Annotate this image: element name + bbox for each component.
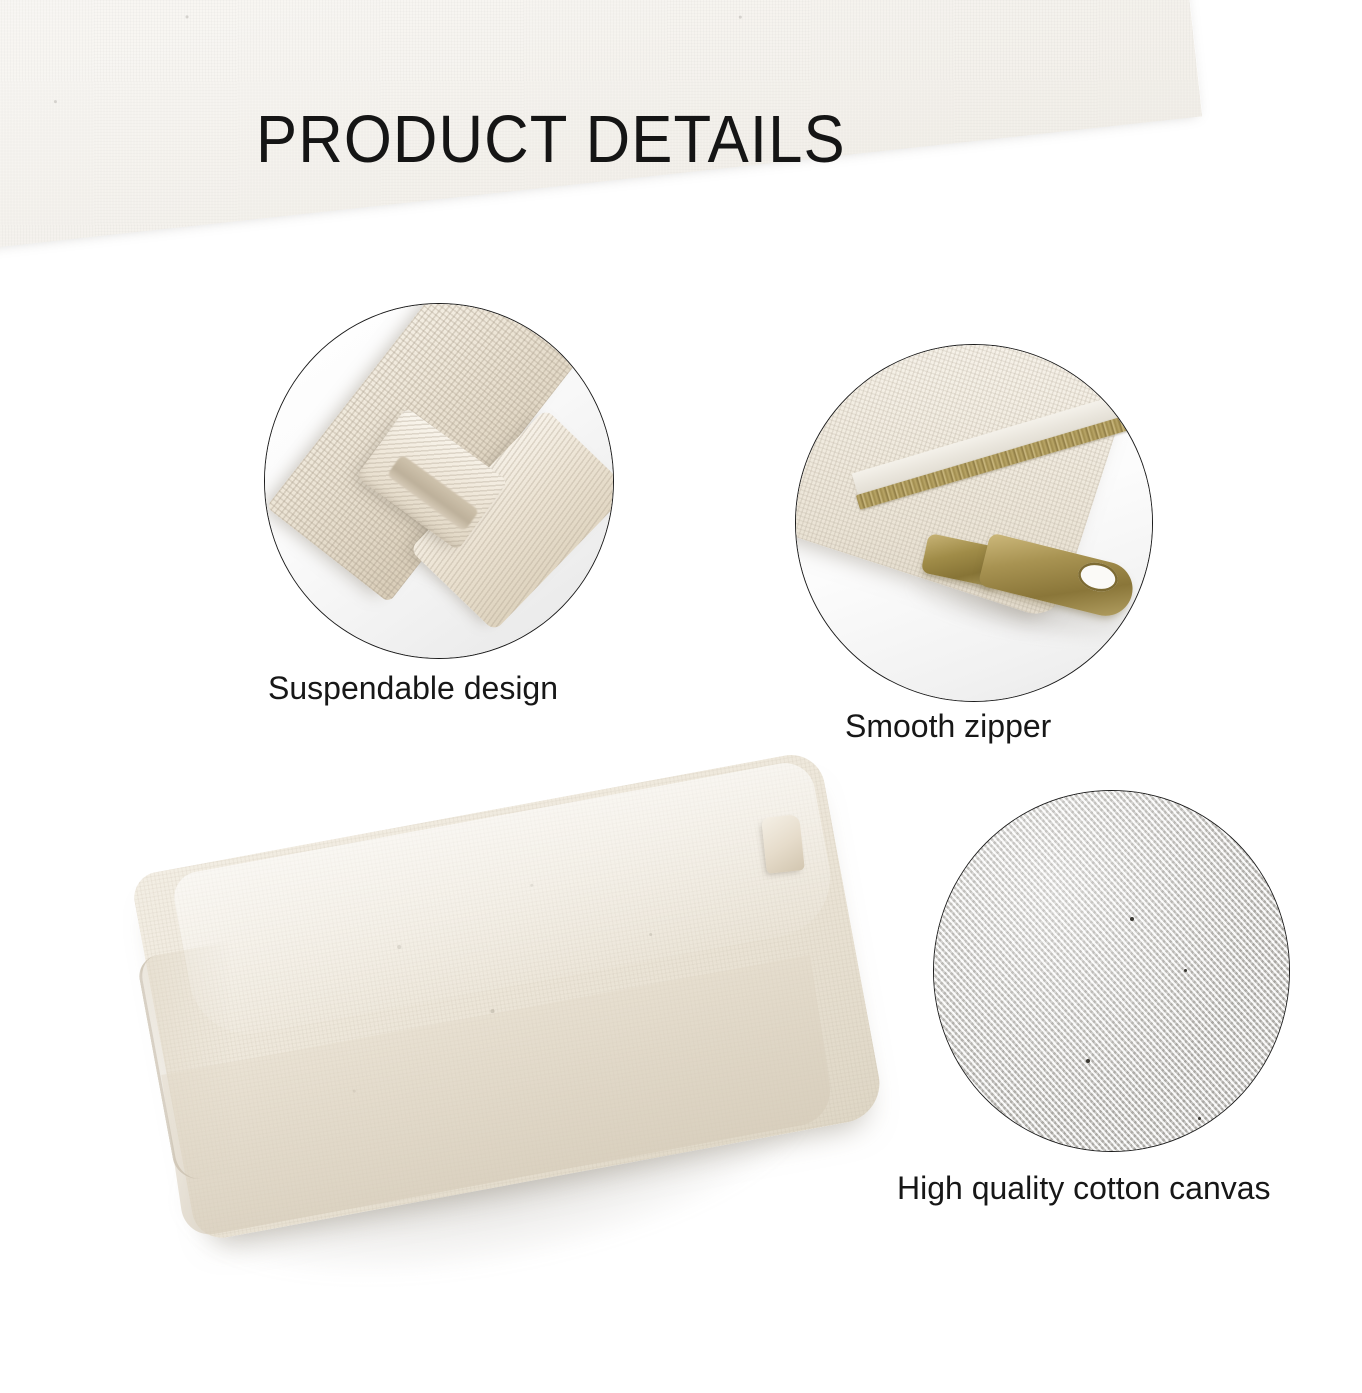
detail-caption-smooth-zipper: Smooth zipper: [845, 710, 1051, 742]
detail-caption-cotton-canvas: High quality cotton canvas: [897, 1172, 1271, 1204]
hero-product-photo: [140, 780, 900, 1300]
product-details-page: PRODUCT DETAILS Suspendable design Smoot…: [0, 0, 1362, 1393]
page-title: PRODUCT DETAILS: [256, 106, 846, 173]
canvas-sheen: [934, 791, 1289, 1151]
detail-photo-smooth-zipper: [795, 344, 1153, 702]
detail-photo-suspendable-design: [264, 303, 614, 659]
pouch-corner-loop-tab: [761, 814, 805, 874]
detail-caption-suspendable-design: Suspendable design: [268, 672, 558, 704]
detail-photo-cotton-canvas: [933, 790, 1290, 1152]
